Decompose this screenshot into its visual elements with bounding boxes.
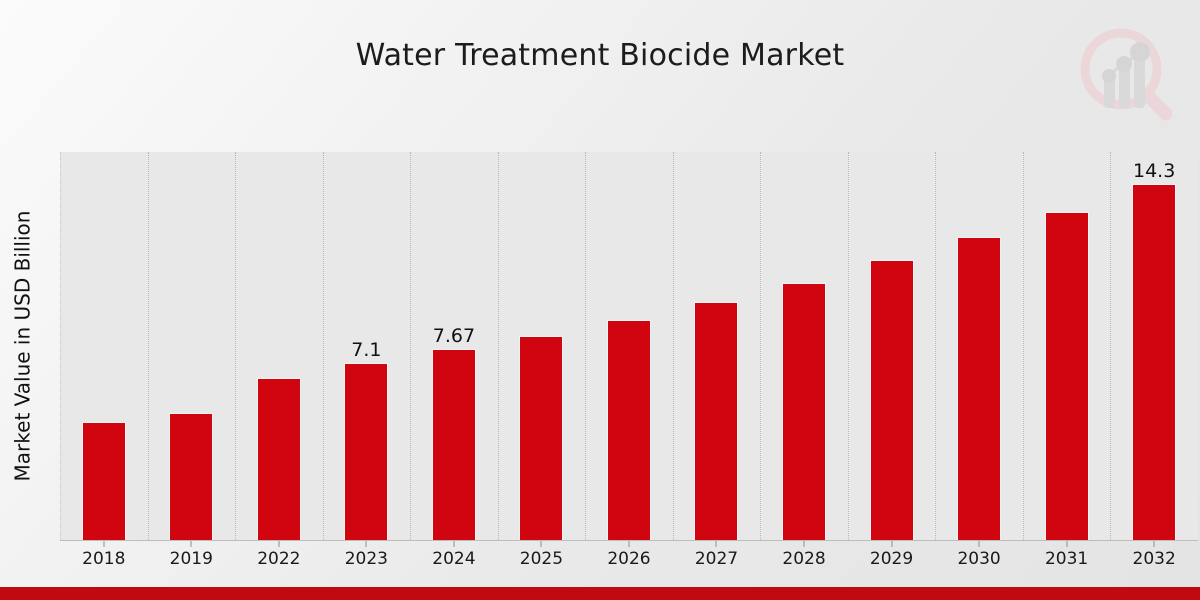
bar-slot xyxy=(935,152,1023,540)
bar[interactable] xyxy=(957,237,1001,540)
x-axis-tick-label: 2030 xyxy=(935,549,1023,569)
x-axis-tick: 2027 xyxy=(673,541,761,577)
x-axis-tick-label: 2027 xyxy=(673,549,761,569)
x-axis-tick-mark xyxy=(1154,541,1155,547)
x-axis-tick-label: 2026 xyxy=(585,549,673,569)
x-axis-tick-mark xyxy=(891,541,892,547)
bar-slot xyxy=(148,152,236,540)
bar[interactable]: 7.1 xyxy=(344,363,388,540)
x-axis-tick-mark xyxy=(541,541,542,547)
x-axis-tick-label: 2031 xyxy=(1023,549,1111,569)
x-axis-tick: 2024 xyxy=(410,541,498,577)
bar-value-label: 7.1 xyxy=(351,339,381,361)
x-axis-tick-mark xyxy=(191,541,192,547)
y-axis-label-container: Market Value in USD Billion xyxy=(0,150,44,542)
bar[interactable] xyxy=(1045,212,1089,540)
x-axis-tick: 2022 xyxy=(235,541,323,577)
bar[interactable] xyxy=(870,260,914,540)
x-axis-tick-label: 2022 xyxy=(235,549,323,569)
page-title: Water Treatment Biocide Market xyxy=(0,38,1200,73)
x-axis: 2018201920222023202420252026202720282029… xyxy=(60,541,1198,577)
plot-area: 7.17.6714.3 xyxy=(60,152,1198,540)
y-axis-label: Market Value in USD Billion xyxy=(10,211,34,482)
x-axis-tick: 2026 xyxy=(585,541,673,577)
bar[interactable]: 14.3 xyxy=(1132,184,1176,540)
bar[interactable] xyxy=(694,302,738,540)
x-axis-tick: 2018 xyxy=(60,541,148,577)
x-axis-tick-label: 2018 xyxy=(60,549,148,569)
bar-slot xyxy=(585,152,673,540)
x-axis-tick-label: 2025 xyxy=(498,549,586,569)
x-axis-tick-label: 2019 xyxy=(148,549,236,569)
x-axis-tick-label: 2023 xyxy=(323,549,411,569)
x-axis-tick: 2019 xyxy=(148,541,236,577)
bar-slot: 7.1 xyxy=(323,152,411,540)
bar-slot: 7.67 xyxy=(410,152,498,540)
bar[interactable] xyxy=(607,320,651,540)
bar-slot xyxy=(760,152,848,540)
x-axis-tick-mark xyxy=(453,541,454,547)
bar-slot xyxy=(673,152,761,540)
x-axis-tick-mark xyxy=(804,541,805,547)
bar-slot xyxy=(498,152,586,540)
x-axis-tick-label: 2024 xyxy=(410,549,498,569)
x-axis-tick: 2030 xyxy=(935,541,1023,577)
bar[interactable] xyxy=(82,422,126,540)
x-axis-tick-mark xyxy=(628,541,629,547)
bars-container: 7.17.6714.3 xyxy=(60,152,1198,540)
x-axis-tick: 2032 xyxy=(1110,541,1198,577)
x-axis-tick: 2029 xyxy=(848,541,936,577)
bar-slot xyxy=(60,152,148,540)
x-axis-tick: 2028 xyxy=(760,541,848,577)
x-axis-tick-mark xyxy=(716,541,717,547)
bar-slot xyxy=(235,152,323,540)
chart-page: Water Treatment Biocide Market Market Va… xyxy=(0,0,1200,600)
bar-slot: 14.3 xyxy=(1110,152,1198,540)
bar-value-label: 7.67 xyxy=(433,325,475,347)
x-axis-tick: 2023 xyxy=(323,541,411,577)
bar[interactable] xyxy=(169,413,213,540)
x-axis-tick: 2025 xyxy=(498,541,586,577)
magnifier-bar-chart-watermark-icon xyxy=(1074,22,1178,126)
x-axis-tick-mark xyxy=(366,541,367,547)
bar[interactable] xyxy=(519,336,563,540)
x-axis-tick-mark xyxy=(979,541,980,547)
x-axis-tick-label: 2028 xyxy=(760,549,848,569)
bar[interactable]: 7.67 xyxy=(432,349,476,540)
x-axis-tick-label: 2032 xyxy=(1110,549,1198,569)
footer-accent-bar xyxy=(0,587,1200,600)
x-axis-tick-mark xyxy=(1066,541,1067,547)
bar[interactable] xyxy=(782,283,826,540)
x-axis-tick-mark xyxy=(278,541,279,547)
bar[interactable] xyxy=(257,378,301,540)
bar-slot xyxy=(1023,152,1111,540)
bar-value-label: 14.3 xyxy=(1133,160,1175,182)
x-axis-tick: 2031 xyxy=(1023,541,1111,577)
x-axis-tick-label: 2029 xyxy=(848,549,936,569)
bar-slot xyxy=(848,152,936,540)
x-axis-tick-mark xyxy=(103,541,104,547)
